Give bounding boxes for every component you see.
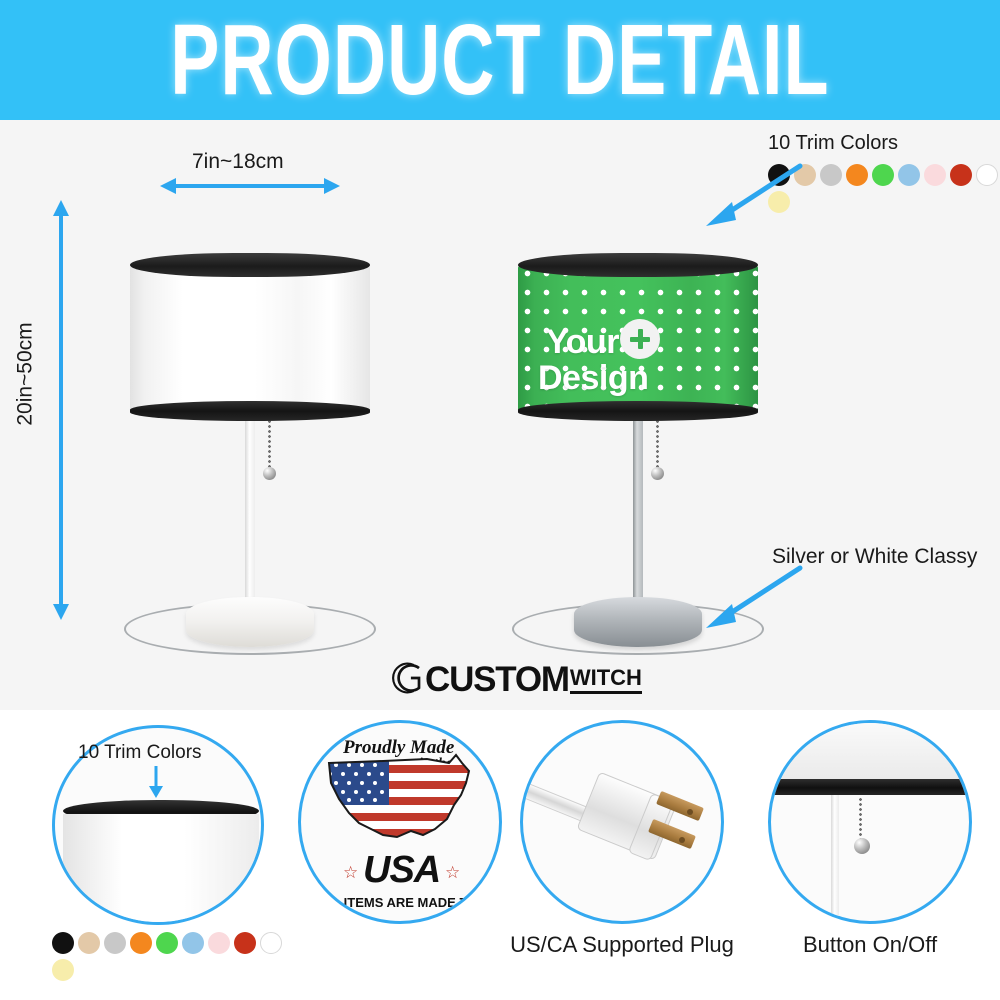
lamp-shade: Your Design [518,253,758,418]
trim-swatch-light-blue[interactable] [898,164,920,186]
trim-swatch-black[interactable] [52,932,74,954]
trim-swatch-red[interactable] [950,164,972,186]
pull-chain-bead[interactable] [263,467,276,480]
usa-flag-map-icon [323,749,485,857]
trim-swatch-green[interactable] [156,932,178,954]
shade-top-trim [130,253,370,277]
shade-body-sample [63,814,259,925]
height-dimension-arrow [52,200,70,620]
trim-swatch-red[interactable] [234,932,256,954]
trim-swatch-orange[interactable] [130,932,152,954]
lamp-white [120,190,380,690]
panel-circle: Proudly Made in the [298,720,502,924]
trim-swatch-tan[interactable] [78,932,100,954]
your-design-line-1: Your [546,325,619,360]
feature-panels: 10 Trim Colors Proudly Made in the [0,710,1000,1000]
plus-icon [620,319,660,359]
trim-colors-title: 10 Trim Colors [768,132,1000,155]
panel-inner-label: 10 Trim Colors [78,742,202,764]
pull-chain[interactable] [859,797,862,841]
shade-sample [771,723,972,783]
logo-witch-text: WITCH [570,668,642,689]
lamp-pole-sample [831,795,839,924]
pull-chain-bead[interactable] [651,467,664,480]
logo-custom-text: CUSTOM [425,664,569,696]
lamp-base [186,597,314,647]
pull-chain-bead[interactable] [854,838,870,854]
trim-swatch-orange[interactable] [846,164,868,186]
brand-logo: CUSTOM WITCH [392,660,642,696]
width-dimension-label: 7in~18cm [192,150,284,174]
plug-prong-hole-lower [679,837,685,843]
usa-star-left: ☆ [343,863,358,883]
lamp-shade [130,253,370,418]
shade-trim-sample [771,779,972,795]
trim-swatch-pink[interactable] [924,164,946,186]
trim-swatch-white[interactable] [976,164,998,186]
shade-bottom-trim [518,401,758,421]
header-banner: PRODUCT DETAIL [0,0,1000,120]
trim-pointer-arrow [700,158,810,228]
logo-c-icon [392,660,428,696]
page-title: PRODUCT DETAIL [170,3,829,118]
usa-star-right: ☆ [445,863,460,883]
trim-swatch-light-blue[interactable] [182,932,204,954]
panel-circle [768,720,972,924]
height-dimension-label: 20in~50cm [14,322,38,425]
lamp-shade-surface [130,264,370,414]
shade-bottom-trim [130,401,370,421]
trim-down-arrow [146,766,166,798]
shade-top-trim [518,253,758,277]
product-stage: 10 Trim Colors 7in~18cm 20in~50cm [0,120,1000,710]
trim-swatch-white[interactable] [260,932,282,954]
base-finish-arrow [700,560,810,630]
trim-swatch-pink[interactable] [208,932,230,954]
lamp-base [574,597,702,647]
panel-caption: Button On/Off [752,932,988,958]
logo-underline [570,691,642,694]
trim-swatch-gray[interactable] [820,164,842,186]
panel-caption: US/CA Supported Plug [502,932,742,958]
plug-prong-hole-upper [687,809,693,815]
usa-big-text: USA [363,849,440,892]
trim-swatch-yellow[interactable] [52,959,74,981]
panel-circle [520,720,724,924]
bottom-trim-swatch-row [52,932,290,981]
trim-swatch-green[interactable] [872,164,894,186]
usa-sub-text: ALL ITEMS ARE MADE TO ORDER! [315,895,502,910]
your-design-line-2: Design [538,361,648,396]
logo-witch-block: WITCH [570,668,642,694]
trim-swatch-gray[interactable] [104,932,126,954]
